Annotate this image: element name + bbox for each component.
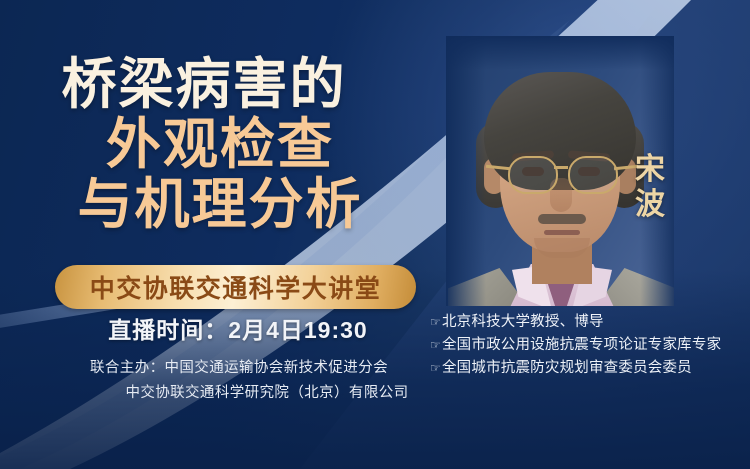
moustache — [538, 214, 586, 224]
credential-row: ☞ 全国城市抗震防灾规划审查委员会委员 — [430, 357, 721, 380]
title-line-3: 与机理分析 — [10, 176, 430, 232]
glasses-lens-right — [568, 156, 618, 194]
glasses-lens-left — [508, 156, 558, 194]
photo-fade-top — [446, 36, 674, 70]
credential-text: 北京科技大学教授、博导 — [442, 311, 604, 334]
credential-row: ☞ 北京科技大学教授、博导 — [430, 311, 721, 334]
page-title: 桥梁病害的 外观检查 与机理分析 — [0, 56, 430, 232]
pointing-hand-icon: ☞ — [430, 359, 441, 378]
speaker-name-char-2: 波 — [627, 187, 673, 222]
speaker-name: 宋 波 — [627, 152, 673, 223]
photo-fade-left — [446, 36, 486, 306]
pointing-hand-icon: ☞ — [430, 313, 441, 332]
speaker-credentials: ☞ 北京科技大学教授、博导 ☞ 全国市政公用设施抗震专项论证专家库专家 ☞ 全国… — [430, 311, 721, 380]
live-time-text: 直播时间：2月4日19:30 — [0, 311, 476, 345]
credential-text: 全国城市抗震防灾规划审查委员会委员 — [442, 357, 692, 380]
mouth — [544, 230, 580, 235]
credential-text: 全国市政公用设施抗震专项论证专家库专家 — [442, 334, 721, 357]
series-banner-label: 中交协联交通科学大讲堂 — [90, 269, 382, 305]
title-line-1: 桥梁病害的 — [0, 56, 430, 112]
organizer-line-2: 中交协联交通科学研究院（北京）有限公司 — [0, 381, 478, 406]
title-line-2: 外观检查 — [10, 116, 430, 172]
speaker-name-char-1: 宋 — [627, 152, 673, 187]
glasses-bridge — [554, 166, 568, 169]
credential-row: ☞ 全国市政公用设施抗震专项论证专家库专家 — [430, 334, 721, 357]
pointing-hand-icon: ☞ — [430, 336, 441, 355]
organizer-line-1: 联合主办：中国交通运输协会新技术促进分会 — [0, 356, 478, 381]
series-banner: 中交协联交通科学大讲堂 — [55, 265, 416, 309]
organizers-block: 联合主办：中国交通运输协会新技术促进分会 中交协联交通科学研究院（北京）有限公司 — [0, 356, 478, 406]
webinar-poster: 桥梁病害的 外观检查 与机理分析 中交协联交通科学大讲堂 直播时间：2月4日19… — [0, 0, 750, 469]
